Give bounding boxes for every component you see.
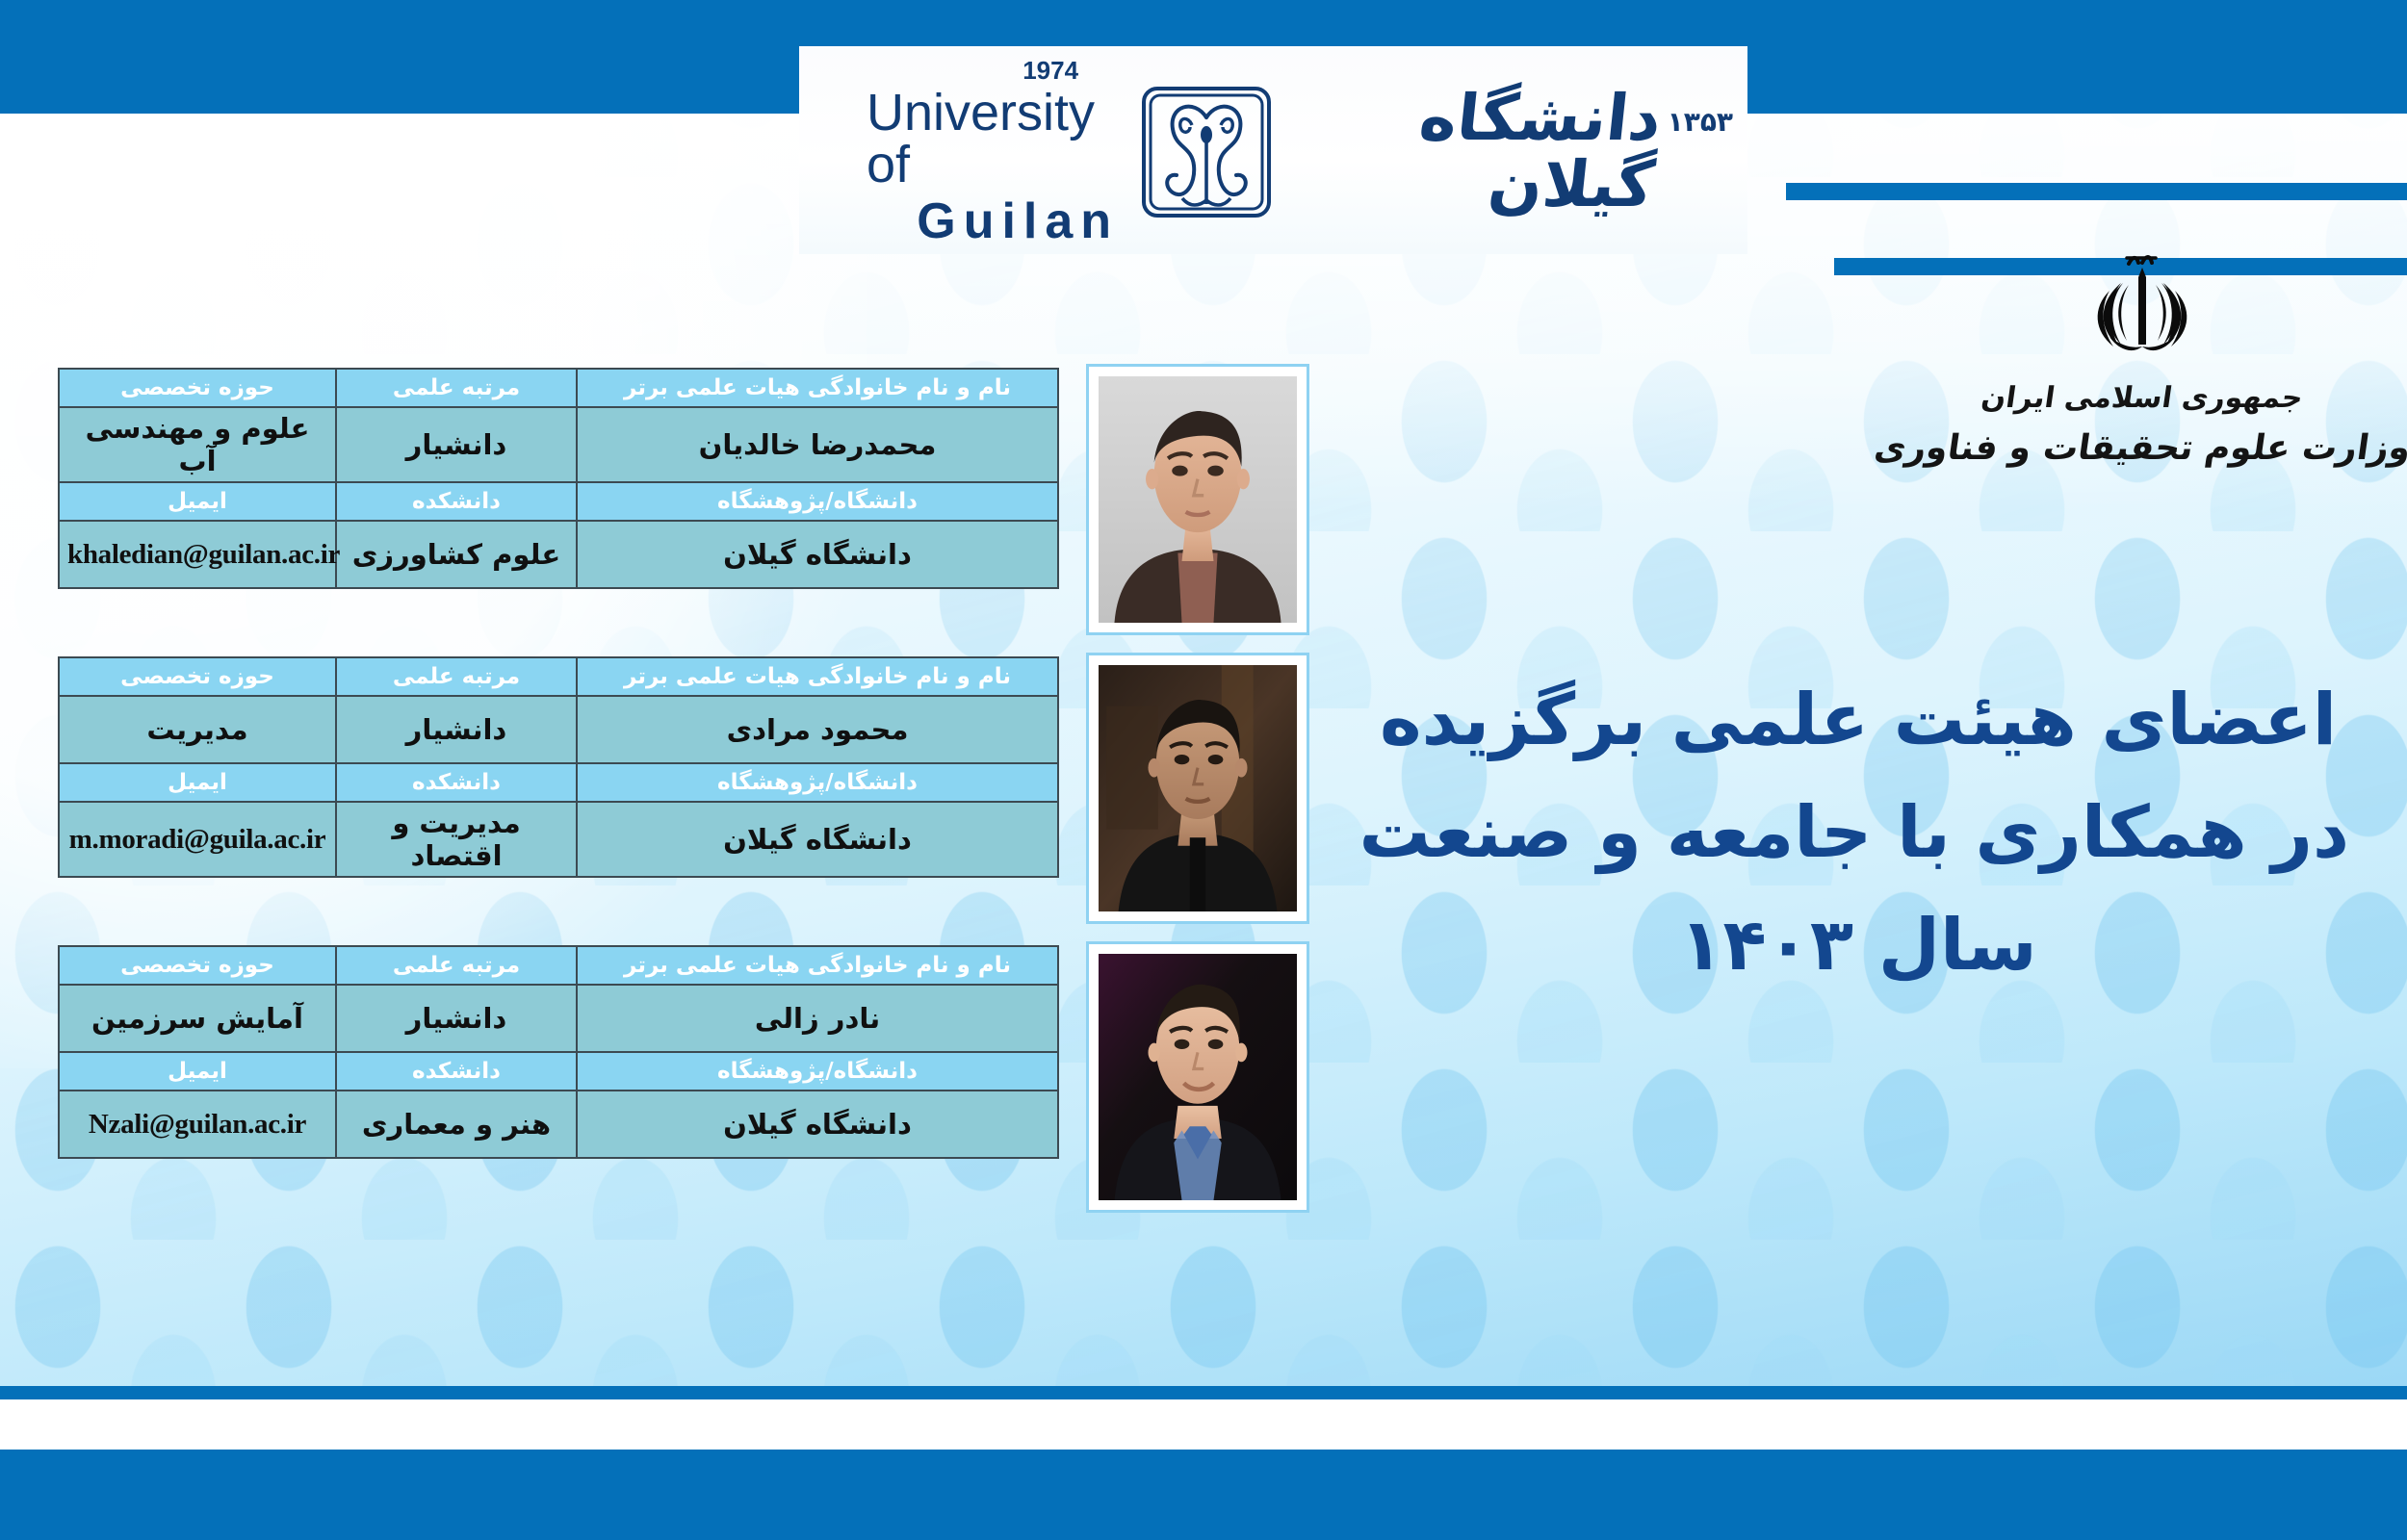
header-cell-faculty: دانشکده bbox=[336, 763, 577, 802]
table-row: دانشگاه/پژوهشگاه دانشکده ایمیل bbox=[59, 1052, 1058, 1091]
value-cell-email[interactable]: m.moradi@guila.ac.ir bbox=[59, 802, 336, 877]
table-row: دانشگاه/پژوهشگاه دانشکده ایمیل bbox=[59, 482, 1058, 521]
avatar bbox=[1099, 665, 1297, 911]
table-row: نادر زالی دانشیار آمایش سرزمین bbox=[59, 985, 1058, 1052]
header-cell-rank: مرتبه علمی bbox=[336, 657, 577, 696]
value-cell-faculty: مدیریت و اقتصاد bbox=[336, 802, 577, 877]
ministry-name-label: وزارت علوم تحقیقات و فناوری bbox=[1872, 428, 2407, 468]
value-cell-email[interactable]: Nzali@guilan.ac.ir bbox=[59, 1091, 336, 1158]
top-blue-band-left bbox=[0, 0, 799, 114]
value-cell-faculty: علوم کشاورزی bbox=[336, 521, 577, 588]
guilan-emblem-icon bbox=[1134, 85, 1279, 219]
value-cell-field: مدیریت bbox=[59, 696, 336, 763]
value-cell-email[interactable]: khaledian@guilan.ac.ir bbox=[59, 521, 336, 588]
ministry-logo: جمهوری اسلامی ایران وزارت علوم تحقیقات و… bbox=[1916, 252, 2368, 541]
table-row: نام و نام خانوادگی هیات علمی برتر مرتبه … bbox=[59, 369, 1058, 407]
header-cell-email: ایمیل bbox=[59, 763, 336, 802]
university-name-persian: دانشگاه گیلان bbox=[1281, 85, 1665, 218]
value-cell-field: آمایش سرزمین bbox=[59, 985, 336, 1052]
university-logo: 1974 University of Guilan ۱۳۵۳ دانشگاه گ… bbox=[867, 82, 1733, 221]
table-row: دانشگاه/پژوهشگاه دانشکده ایمیل bbox=[59, 763, 1058, 802]
value-cell-field: علوم و مهندسی آب bbox=[59, 407, 336, 482]
iran-emblem-icon bbox=[2081, 252, 2204, 366]
page-title: اعضای هیئت علمی برگزیده در همکاری با جام… bbox=[1367, 664, 2349, 1002]
faculty-info-table: نام و نام خانوادگی هیات علمی برتر مرتبه … bbox=[58, 945, 1059, 1159]
page-title-line-2: در همکاری با جامعه و صنعت bbox=[1367, 777, 2349, 889]
bottom-accent-rule bbox=[0, 1386, 2407, 1399]
faculty-entry: نام و نام خانوادگی هیات علمی برتر مرتبه … bbox=[58, 945, 1059, 1159]
header-cell-email: ایمیل bbox=[59, 1052, 336, 1091]
top-blue-band-right bbox=[1747, 0, 2407, 114]
value-cell-institution: دانشگاه گیلان bbox=[577, 802, 1058, 877]
header-cell-rank: مرتبه علمی bbox=[336, 369, 577, 407]
header-cell-name: نام و نام خانوادگی هیات علمی برتر bbox=[577, 657, 1058, 696]
header-cell-email: ایمیل bbox=[59, 482, 336, 521]
faculty-photo-frame bbox=[1086, 941, 1309, 1213]
top-blue-band-center bbox=[799, 0, 1747, 46]
page-title-line-1: اعضای هیئت علمی برگزیده bbox=[1367, 664, 2349, 777]
faculty-photo-frame bbox=[1086, 364, 1309, 635]
header-cell-faculty: دانشکده bbox=[336, 1052, 577, 1091]
university-name-english-line2: Guilan bbox=[917, 196, 1119, 246]
table-row: نام و نام خانوادگی هیات علمی برتر مرتبه … bbox=[59, 946, 1058, 985]
value-cell-name: محمود مرادی bbox=[577, 696, 1058, 763]
value-cell-institution: دانشگاه گیلان bbox=[577, 1091, 1058, 1158]
page-title-line-3: سال ۱۴۰۳ bbox=[1367, 889, 2349, 1002]
header-cell-institution: دانشگاه/پژوهشگاه bbox=[577, 482, 1058, 521]
faculty-entry: نام و نام خانوادگی هیات علمی برتر مرتبه … bbox=[58, 368, 1059, 589]
ministry-country-label: جمهوری اسلامی ایران bbox=[1980, 381, 2306, 415]
table-row: دانشگاه گیلان مدیریت و اقتصاد m.moradi@g… bbox=[59, 802, 1058, 877]
header-cell-field: حوزه تخصصی bbox=[59, 657, 336, 696]
bottom-white-strip bbox=[0, 1399, 2407, 1450]
header-cell-institution: دانشگاه/پژوهشگاه bbox=[577, 763, 1058, 802]
accent-bar-upper bbox=[1786, 183, 2407, 200]
header-cell-field: حوزه تخصصی bbox=[59, 369, 336, 407]
university-logo-english: 1974 University of Guilan bbox=[867, 58, 1125, 246]
faculty-info-table: نام و نام خانوادگی هیات علمی برتر مرتبه … bbox=[58, 368, 1059, 589]
bottom-blue-band bbox=[0, 1450, 2407, 1540]
avatar bbox=[1099, 376, 1297, 623]
faculty-info-table: نام و نام خانوادگی هیات علمی برتر مرتبه … bbox=[58, 656, 1059, 878]
table-row: محمدرضا خالدیان دانشیار علوم و مهندسی آب bbox=[59, 407, 1058, 482]
value-cell-rank: دانشیار bbox=[336, 985, 577, 1052]
header-cell-institution: دانشگاه/پژوهشگاه bbox=[577, 1052, 1058, 1091]
value-cell-institution: دانشگاه گیلان bbox=[577, 521, 1058, 588]
value-cell-rank: دانشیار bbox=[336, 696, 577, 763]
table-row: دانشگاه گیلان هنر و معماری Nzali@guilan.… bbox=[59, 1091, 1058, 1158]
value-cell-name: محمدرضا خالدیان bbox=[577, 407, 1058, 482]
table-row: دانشگاه گیلان علوم کشاورزی khaledian@gui… bbox=[59, 521, 1058, 588]
university-founding-year-persian: ۱۳۵۳ bbox=[1668, 106, 1733, 138]
table-row: نام و نام خانوادگی هیات علمی برتر مرتبه … bbox=[59, 657, 1058, 696]
value-cell-faculty: هنر و معماری bbox=[336, 1091, 577, 1158]
poster-canvas: 1974 University of Guilan ۱۳۵۳ دانشگاه گ… bbox=[0, 0, 2407, 1540]
university-founding-year-latin: 1974 bbox=[1022, 58, 1078, 83]
header-cell-field: حوزه تخصصی bbox=[59, 946, 336, 985]
faculty-entry: نام و نام خانوادگی هیات علمی برتر مرتبه … bbox=[58, 656, 1059, 878]
value-cell-name: نادر زالی bbox=[577, 985, 1058, 1052]
value-cell-rank: دانشیار bbox=[336, 407, 577, 482]
header-cell-rank: مرتبه علمی bbox=[336, 946, 577, 985]
header-cell-name: نام و نام خانوادگی هیات علمی برتر bbox=[577, 946, 1058, 985]
faculty-photo-frame bbox=[1086, 653, 1309, 924]
avatar bbox=[1099, 954, 1297, 1200]
university-logo-persian: ۱۳۵۳ دانشگاه گیلان bbox=[1288, 85, 1733, 218]
header-cell-name: نام و نام خانوادگی هیات علمی برتر bbox=[577, 369, 1058, 407]
header-cell-faculty: دانشکده bbox=[336, 482, 577, 521]
university-name-english-line1: University of bbox=[867, 87, 1119, 191]
table-row: محمود مرادی دانشیار مدیریت bbox=[59, 696, 1058, 763]
